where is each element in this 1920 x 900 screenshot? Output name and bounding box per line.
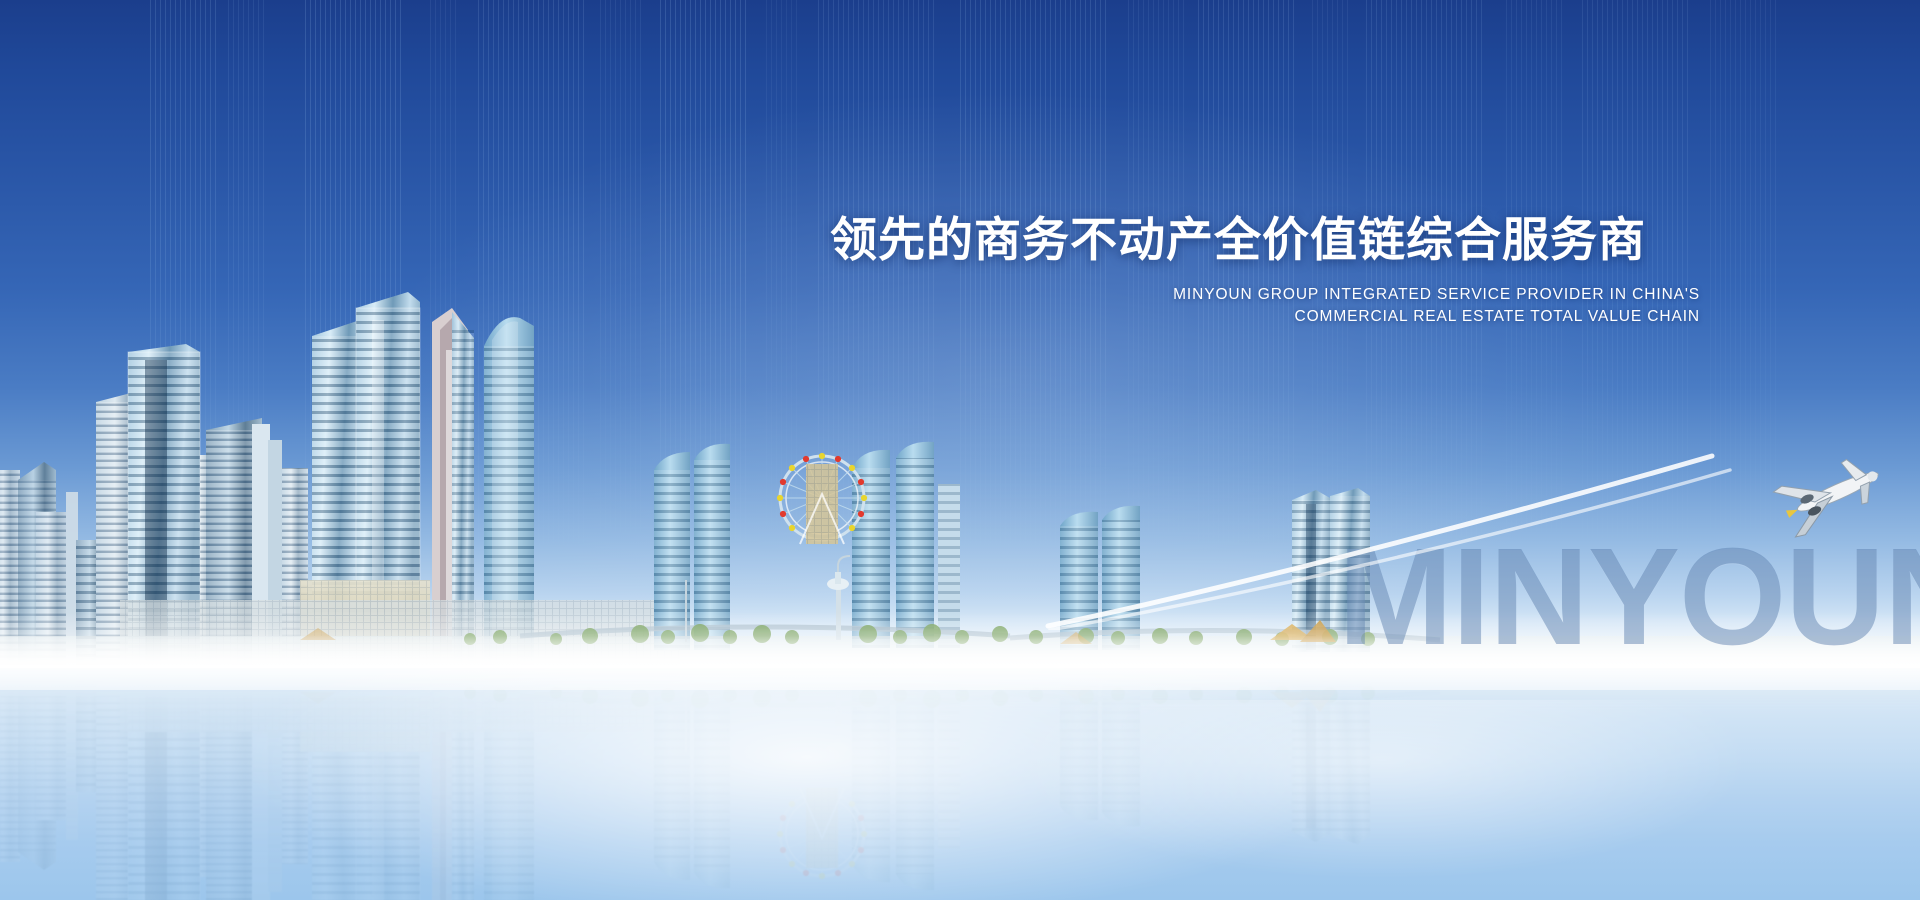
subtitle-line-2: COMMERCIAL REAL ESTATE TOTAL VALUE CHAIN (0, 306, 1700, 328)
airplane-icon (1742, 430, 1920, 560)
page-title: 领先的商务不动产全价值链综合服务商 (830, 214, 1646, 267)
subtitle-line-1: MINYOUN GROUP INTEGRATED SERVICE PROVIDE… (0, 284, 1700, 306)
hero-banner: MINYOUN 领先的商务不动产全价值链综合服务商 MINYOUN GROUP … (0, 0, 1920, 900)
water-glow-secondary (0, 700, 1920, 900)
subtitle-block: MINYOUN GROUP INTEGRATED SERVICE PROVIDE… (0, 284, 1700, 329)
